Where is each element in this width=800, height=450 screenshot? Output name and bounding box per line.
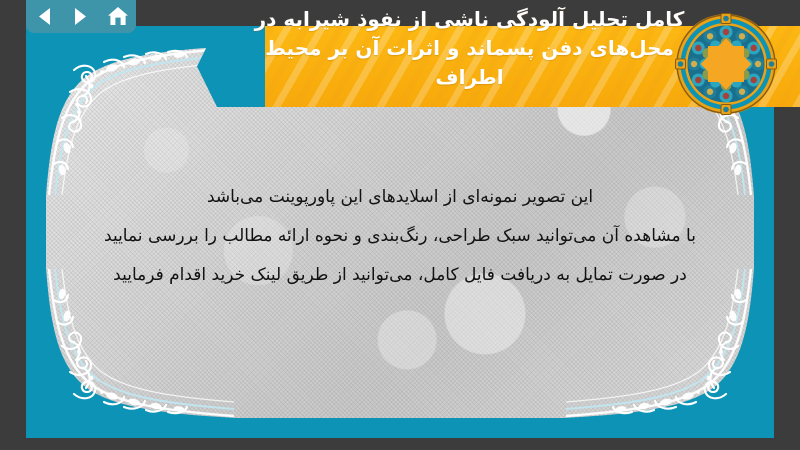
slide-body-text: این تصویر نمونه‌ای از اسلایدهای این پاور… <box>86 178 714 295</box>
slide-screen: این تصویر نمونه‌ای از اسلایدهای این پاور… <box>0 0 800 450</box>
navigation-bar <box>26 0 136 33</box>
persian-medallion-icon <box>674 12 778 116</box>
page-title: کامل تحلیل آلودگی ناشی از نفوذ شیرابه در… <box>197 5 742 92</box>
body-line-3: در صورت تمایل به دریافت فایل کامل، می‌تو… <box>86 256 714 295</box>
forward-button[interactable] <box>68 5 94 29</box>
body-line-1: این تصویر نمونه‌ای از اسلایدهای این پاور… <box>86 178 714 217</box>
home-button[interactable] <box>105 5 131 29</box>
body-line-2: با مشاهده آن می‌توانید سبک طراحی، رنگ‌بن… <box>86 217 714 256</box>
triangle-left-icon <box>36 7 53 26</box>
home-icon <box>107 6 129 27</box>
triangle-right-icon <box>72 7 89 26</box>
back-button[interactable] <box>31 5 57 29</box>
